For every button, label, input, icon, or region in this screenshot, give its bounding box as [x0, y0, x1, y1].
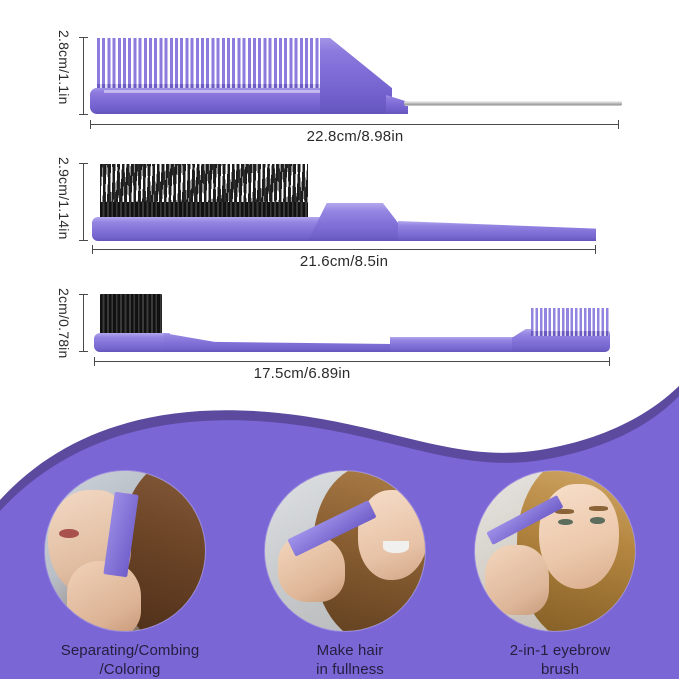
- comb-tapered-handle: [320, 38, 392, 114]
- eyebrow-comb-teeth-field: [531, 308, 609, 336]
- feature-caption-3-line2: brush: [475, 660, 645, 679]
- eyebrow-brush-handle-mid: [390, 337, 520, 352]
- product-3-eyebrow-brush: 2cm/0.78in 17.5cm/6.89in: [0, 275, 679, 380]
- product-2-height-rule: [83, 163, 84, 241]
- eye-right-region: [590, 517, 604, 523]
- feature-item-3: 2-in-1 eyebrow brush: [475, 471, 645, 679]
- product-2-height-label: 2.9cm/1.14in: [56, 157, 72, 240]
- product-3-height-label: 2cm/0.78in: [56, 288, 72, 358]
- product-2-length-rule: [92, 249, 596, 250]
- eyebrow-brush-bristles: [100, 294, 162, 336]
- eyebrow-brush-ferrule: [94, 333, 170, 352]
- feature-caption-2: Make hair in fullness: [265, 641, 435, 679]
- brush-thumb-grip: [308, 203, 412, 241]
- product-3-length-rule: [94, 361, 610, 362]
- feature-caption-1-line1: Separating/Combing: [45, 641, 215, 660]
- hand-region: [485, 545, 549, 615]
- metal-pin-tail: [404, 101, 622, 106]
- feature-caption-1: Separating/Combing /Coloring: [45, 641, 215, 679]
- lips-region: [59, 529, 78, 539]
- product-infographic: 2.8cm/1.1in 22.8cm/8.98in 2.9cm/1: [0, 0, 679, 679]
- feature-photo-1: [45, 471, 205, 631]
- comb-left-end: [90, 88, 104, 114]
- brush-body: [92, 217, 322, 241]
- feature-photo-2: [265, 471, 425, 631]
- product-2-teasing-brush: 2.9cm/1.14in 21.6cm/8.5in: [0, 145, 679, 275]
- feature-caption-1-line2: /Coloring: [45, 660, 215, 679]
- brow-right-region: [589, 506, 608, 511]
- product-1-height-label: 2.8cm/1.1in: [56, 30, 72, 105]
- feature-panel: Separating/Combing /Coloring: [0, 378, 679, 679]
- product-1-length-rule: [90, 124, 619, 125]
- product-1-height-rule: [83, 37, 84, 115]
- feature-caption-2-line2: in fullness: [265, 660, 435, 679]
- feature-photo-3: [475, 471, 635, 631]
- product-1-length-label: 22.8cm/8.98in: [255, 128, 455, 145]
- feature-item-2: Make hair in fullness: [265, 471, 435, 679]
- smile-region: [383, 541, 409, 552]
- comb-teeth: [97, 38, 325, 91]
- feature-caption-3: 2-in-1 eyebrow brush: [475, 641, 645, 679]
- feature-caption-2-line1: Make hair: [265, 641, 435, 660]
- brush-tail: [398, 221, 596, 241]
- feature-caption-3-line1: 2-in-1 eyebrow: [475, 641, 645, 660]
- eyebrow-brush-handle: [164, 331, 394, 352]
- product-3-height-rule: [83, 294, 84, 352]
- product-2-length-label: 21.6cm/8.5in: [244, 253, 444, 270]
- feature-item-1: Separating/Combing /Coloring: [45, 471, 215, 679]
- product-1-tail-comb: 2.8cm/1.1in 22.8cm/8.98in: [0, 0, 679, 145]
